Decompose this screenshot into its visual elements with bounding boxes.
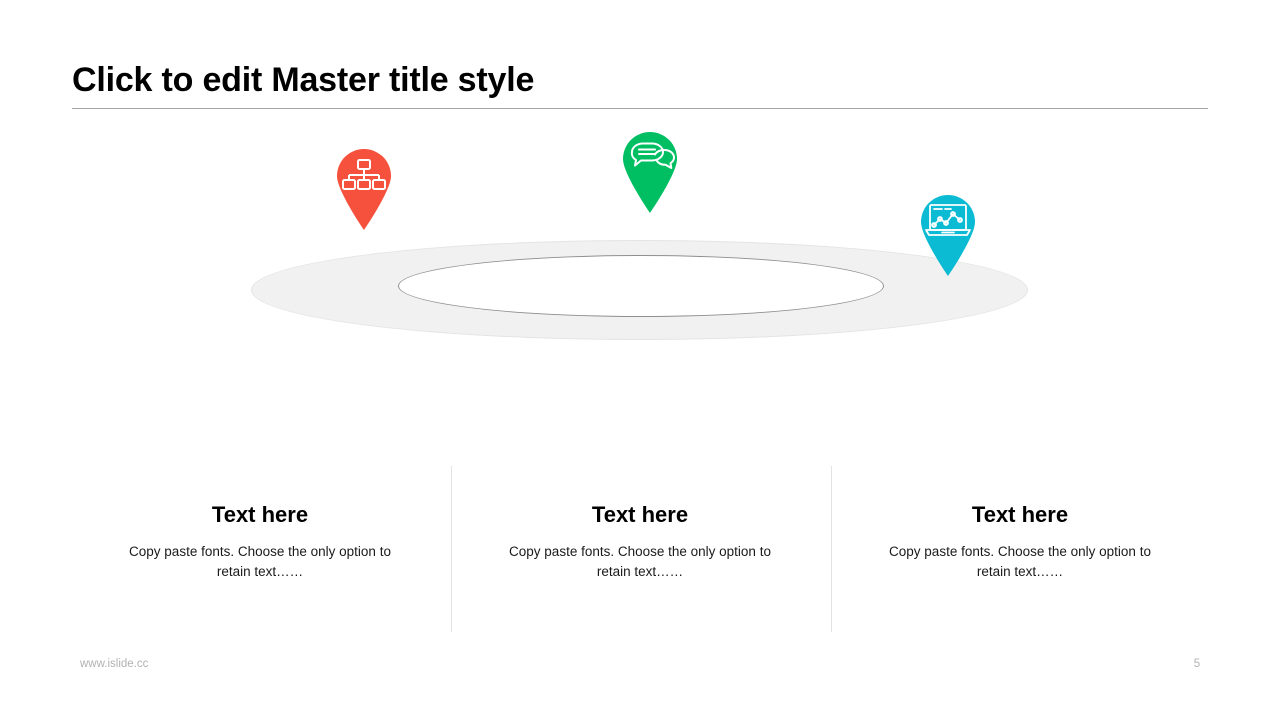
column-body[interactable]: Copy paste fonts. Choose the only option… <box>503 542 778 582</box>
column-divider-2 <box>831 466 832 632</box>
footer-url[interactable]: www.islide.cc <box>80 658 148 670</box>
map-pin-chat[interactable] <box>619 129 681 213</box>
map-pin-org-chart[interactable] <box>333 146 395 230</box>
inner-ellipse <box>398 255 884 317</box>
column-heading[interactable]: Text here <box>84 500 436 530</box>
column-heading[interactable]: Text here <box>844 500 1196 530</box>
ring-diagram <box>0 130 1280 430</box>
map-pin-laptop-chart[interactable] <box>917 192 979 276</box>
title-divider <box>72 108 1208 109</box>
column-heading[interactable]: Text here <box>464 500 816 530</box>
page-title[interactable]: Click to edit Master title style <box>72 58 1208 102</box>
text-column-2: Text here Copy paste fonts. Choose the o… <box>464 500 816 582</box>
column-divider-1 <box>451 466 452 632</box>
text-column-3: Text here Copy paste fonts. Choose the o… <box>844 500 1196 582</box>
page-number: 5 <box>1186 658 1208 670</box>
column-body[interactable]: Copy paste fonts. Choose the only option… <box>123 542 398 582</box>
text-column-1: Text here Copy paste fonts. Choose the o… <box>84 500 436 582</box>
text-columns: Text here Copy paste fonts. Choose the o… <box>72 466 1208 632</box>
column-body[interactable]: Copy paste fonts. Choose the only option… <box>883 542 1158 582</box>
